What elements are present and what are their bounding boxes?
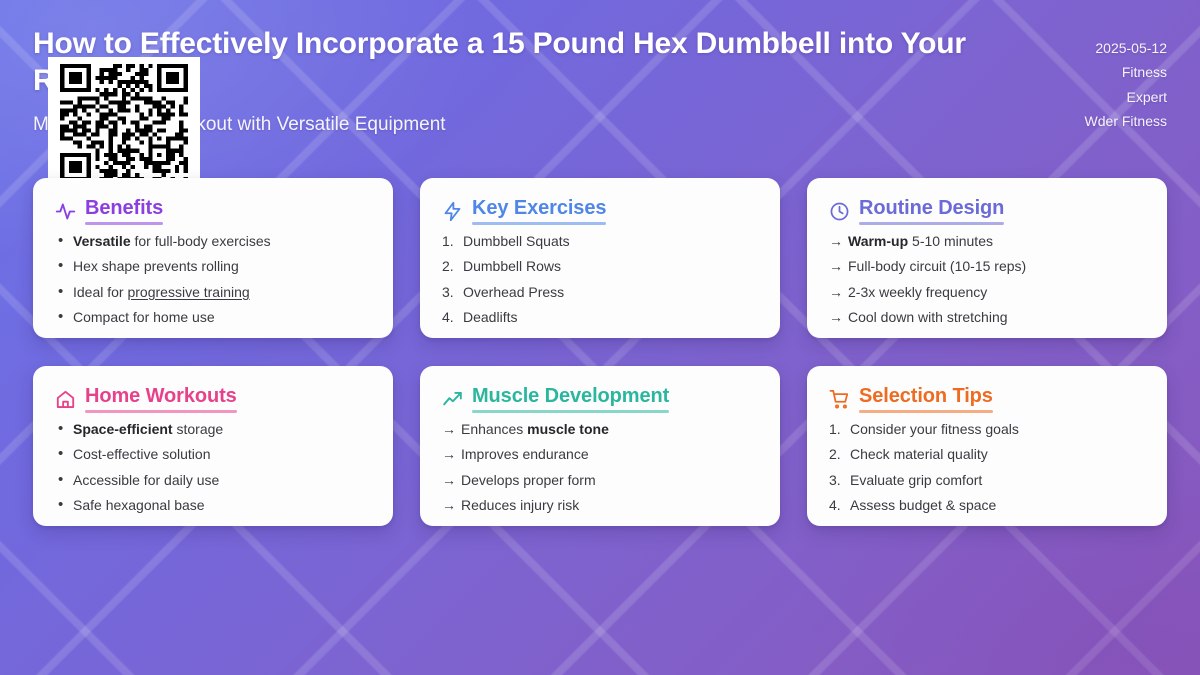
- card-title: Benefits: [85, 197, 163, 225]
- card-grid: BenefitsVersatile for full-body exercise…: [33, 178, 1167, 526]
- list-item: Cool down with stretching: [829, 310, 1145, 325]
- list-item: Full-body circuit (10-15 reps): [829, 259, 1145, 274]
- list-item: Develops proper form: [442, 473, 758, 488]
- list-item: Evaluate grip comfort: [829, 473, 1145, 488]
- qr-code-overlay[interactable]: [48, 57, 200, 188]
- list-item: Enhances muscle tone: [442, 422, 758, 437]
- list-item: Dumbbell Squats: [442, 234, 758, 249]
- card-list: Warm-up 5-10 minutesFull-body circuit (1…: [829, 234, 1145, 326]
- list-item: Consider your fitness goals: [829, 422, 1145, 437]
- card-selection-tips: Selection TipsConsider your fitness goal…: [807, 366, 1167, 526]
- card-key-exercises: Key ExercisesDumbbell SquatsDumbbell Row…: [420, 178, 780, 338]
- card-header: Selection Tips: [829, 385, 1145, 413]
- trending-up-icon: [442, 389, 463, 410]
- header-meta: 2025-05-12 Fitness Expert Wder Fitness: [1085, 26, 1167, 133]
- meta-category: Fitness: [1085, 60, 1167, 84]
- list-item: Hex shape prevents rolling: [55, 259, 371, 274]
- list-item: Versatile for full-body exercises: [55, 234, 371, 249]
- card-list: Consider your fitness goalsCheck materia…: [829, 422, 1145, 514]
- list-item: Compact for home use: [55, 310, 371, 325]
- list-item: Dumbbell Rows: [442, 259, 758, 274]
- lightning-bolt-icon: [442, 201, 463, 222]
- clock-icon: [829, 201, 850, 222]
- list-item: Cost-effective solution: [55, 447, 371, 462]
- card-title: Home Workouts: [85, 385, 237, 413]
- meta-date: 2025-05-12: [1085, 36, 1167, 60]
- list-item-emphasis: Versatile: [73, 233, 131, 249]
- meta-brand: Wder Fitness: [1085, 109, 1167, 133]
- card-header: Benefits: [55, 197, 371, 225]
- home-icon: [55, 389, 76, 410]
- card-title: Key Exercises: [472, 197, 606, 225]
- list-item-emphasis: Space-efficient: [73, 421, 173, 437]
- activity-pulse-icon: [55, 201, 76, 222]
- card-title: Selection Tips: [859, 385, 993, 413]
- list-item: Overhead Press: [442, 285, 758, 300]
- qr-code[interactable]: [60, 64, 188, 181]
- card-routine-design: Routine DesignWarm-up 5-10 minutesFull-b…: [807, 178, 1167, 338]
- card-header: Home Workouts: [55, 385, 371, 413]
- shopping-cart-icon: [829, 389, 850, 410]
- card-benefits: BenefitsVersatile for full-body exercise…: [33, 178, 393, 338]
- list-item: Accessible for daily use: [55, 473, 371, 488]
- list-item: Check material quality: [829, 447, 1145, 462]
- list-item: Space-efficient storage: [55, 422, 371, 437]
- card-muscle-development: Muscle DevelopmentEnhances muscle toneIm…: [420, 366, 780, 526]
- header: How to Effectively Incorporate a 15 Poun…: [33, 26, 1167, 137]
- card-home-workouts: Home WorkoutsSpace-efficient storageCost…: [33, 366, 393, 526]
- list-item-emphasis: Warm-up: [848, 233, 908, 249]
- card-title: Routine Design: [859, 197, 1004, 225]
- card-list: Versatile for full-body exercisesHex sha…: [55, 234, 371, 326]
- list-item-link[interactable]: progressive training: [127, 284, 249, 300]
- list-item: Reduces injury risk: [442, 498, 758, 513]
- card-list: Enhances muscle toneImproves enduranceDe…: [442, 422, 758, 514]
- poster-page: How to Effectively Incorporate a 15 Poun…: [0, 0, 1200, 675]
- card-header: Routine Design: [829, 197, 1145, 225]
- list-item: Improves endurance: [442, 447, 758, 462]
- list-item: 2-3x weekly frequency: [829, 285, 1145, 300]
- card-list: Space-efficient storageCost-effective so…: [55, 422, 371, 514]
- card-title: Muscle Development: [472, 385, 669, 413]
- meta-level: Expert: [1085, 85, 1167, 109]
- list-item-emphasis: muscle tone: [527, 421, 609, 437]
- list-item: Warm-up 5-10 minutes: [829, 234, 1145, 249]
- card-list: Dumbbell SquatsDumbbell RowsOverhead Pre…: [442, 234, 758, 326]
- card-header: Key Exercises: [442, 197, 758, 225]
- list-item: Ideal for progressive training: [55, 285, 371, 300]
- list-item: Deadlifts: [442, 310, 758, 325]
- list-item: Safe hexagonal base: [55, 498, 371, 513]
- card-header: Muscle Development: [442, 385, 758, 413]
- list-item: Assess budget & space: [829, 498, 1145, 513]
